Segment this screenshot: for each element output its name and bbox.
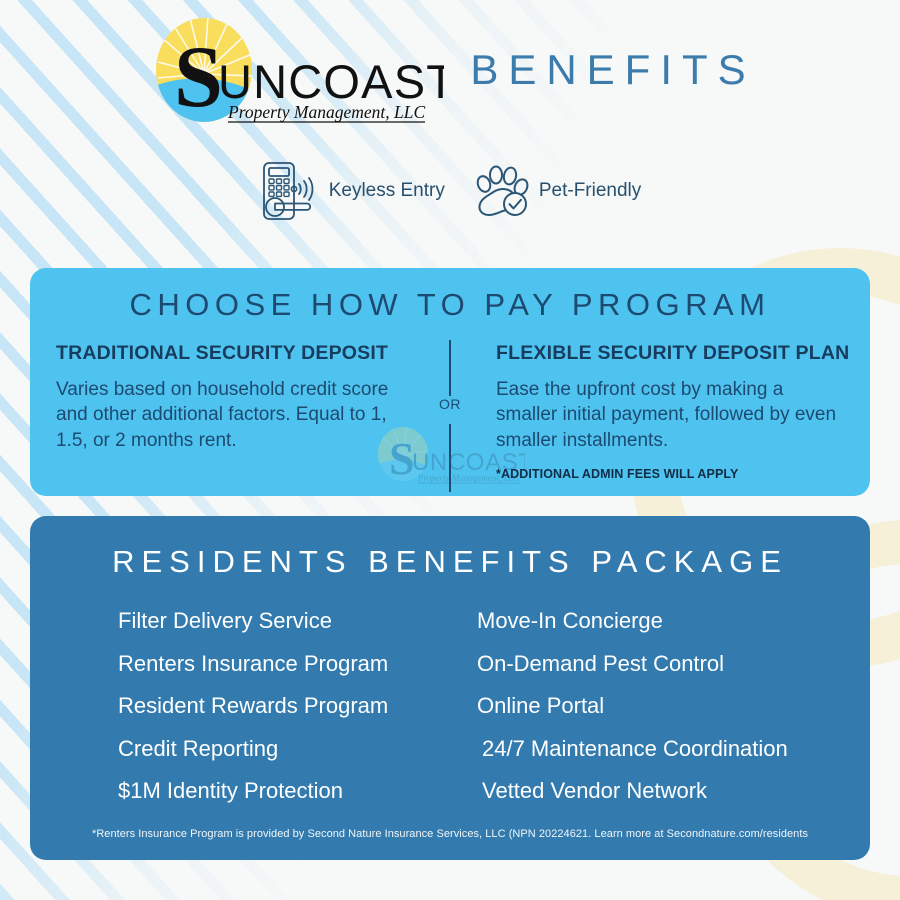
benefits-flyer: S UNCOAST Property Management, LLC BENEF… bbox=[0, 0, 900, 900]
list-item[interactable]: Renters Insurance Program bbox=[118, 653, 450, 675]
amenity-keyless-entry[interactable]: Keyless Entry bbox=[259, 160, 445, 222]
amenity-pet-friendly[interactable]: Pet-Friendly bbox=[471, 160, 641, 222]
benefits-footnote: *Renters Insurance Program is provided b… bbox=[30, 828, 870, 840]
svg-text:UNCOAST: UNCOAST bbox=[218, 55, 444, 108]
pay-option-flexible[interactable]: FLEXIBLE SECURITY DEPOSIT PLAN Ease the … bbox=[450, 342, 844, 481]
amenity-label-keyless-entry: Keyless Entry bbox=[329, 180, 445, 202]
list-item[interactable]: 24/7 Maintenance Coordination bbox=[477, 738, 844, 760]
benefits-column-left: Filter Delivery Service Renters Insuranc… bbox=[56, 610, 450, 823]
list-item[interactable]: Move-In Concierge bbox=[477, 610, 844, 632]
benefits-columns: Filter Delivery Service Renters Insuranc… bbox=[56, 610, 844, 823]
list-item[interactable]: $1M Identity Protection bbox=[118, 780, 450, 802]
benefits-column-right: Move-In Concierge On-Demand Pest Control… bbox=[450, 610, 844, 823]
list-item[interactable]: Online Portal bbox=[477, 695, 844, 717]
choose-how-to-pay-card: CHOOSE HOW TO PAY PROGRAM TRADITIONAL SE… bbox=[30, 268, 870, 496]
benefits-wordmark: BENEFITS bbox=[470, 49, 755, 91]
amenity-label-pet-friendly: Pet-Friendly bbox=[539, 180, 641, 202]
list-item[interactable]: Filter Delivery Service bbox=[118, 610, 450, 632]
or-divider-line bbox=[449, 340, 451, 492]
page-header: S UNCOAST Property Management, LLC BENEF… bbox=[0, 14, 900, 126]
residents-benefits-package-title: RESIDENTS BENEFITS PACKAGE bbox=[56, 542, 844, 582]
paw-check-icon bbox=[471, 160, 533, 222]
list-item[interactable]: On-Demand Pest Control bbox=[477, 653, 844, 675]
pay-options-columns: TRADITIONAL SECURITY DEPOSIT Varies base… bbox=[56, 342, 844, 481]
amenities-row: Keyless Entry Pet-Friendly bbox=[0, 160, 900, 222]
suncoast-logo-icon: S UNCOAST Property Management, LLC bbox=[144, 14, 444, 126]
pay-option-traditional[interactable]: TRADITIONAL SECURITY DEPOSIT Varies base… bbox=[56, 342, 450, 481]
keypad-lock-icon bbox=[259, 160, 323, 222]
svg-text:S: S bbox=[174, 29, 223, 126]
suncoast-logo: S UNCOAST Property Management, LLC bbox=[144, 14, 444, 126]
pay-option-traditional-title: TRADITIONAL SECURITY DEPOSIT bbox=[56, 342, 410, 365]
list-item[interactable]: Vetted Vendor Network bbox=[477, 780, 844, 802]
pay-option-flexible-title: FLEXIBLE SECURITY DEPOSIT PLAN bbox=[496, 342, 844, 365]
list-item[interactable]: Credit Reporting bbox=[118, 738, 450, 760]
svg-text:Property Management, LLC: Property Management, LLC bbox=[227, 102, 426, 122]
residents-benefits-package-card: RESIDENTS BENEFITS PACKAGE Filter Delive… bbox=[30, 516, 870, 860]
or-divider-label: OR bbox=[439, 396, 461, 412]
pay-option-traditional-body: Varies based on household credit score a… bbox=[56, 377, 410, 453]
list-item[interactable]: Resident Rewards Program bbox=[118, 695, 450, 717]
pay-option-flexible-body: Ease the upfront cost by making a smalle… bbox=[496, 377, 844, 453]
choose-how-to-pay-title: CHOOSE HOW TO PAY PROGRAM bbox=[56, 286, 844, 325]
pay-option-flexible-note: *ADDITIONAL ADMIN FEES WILL APPLY bbox=[496, 467, 844, 481]
